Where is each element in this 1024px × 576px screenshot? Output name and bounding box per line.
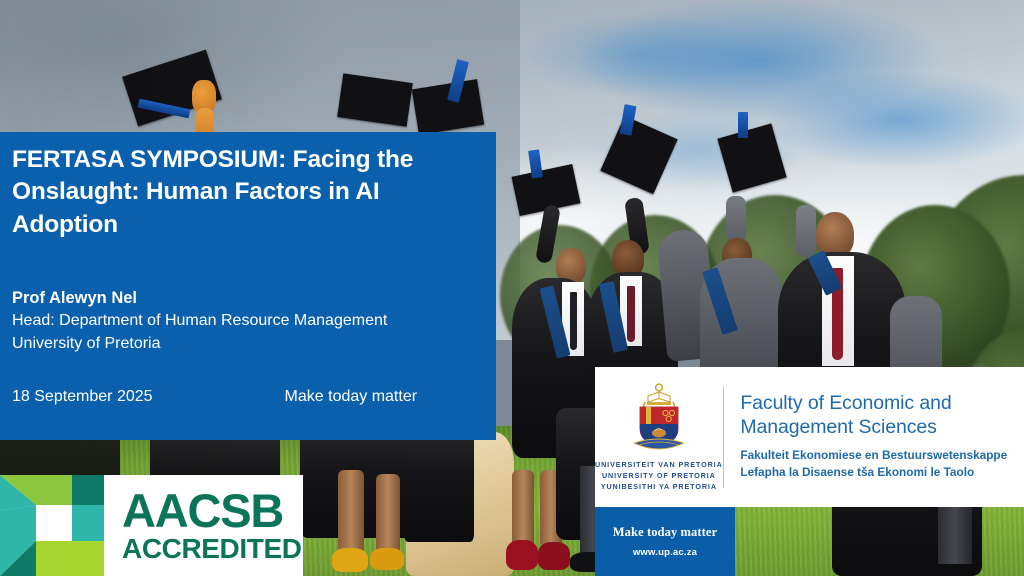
- cap-tassel-icon: [738, 112, 748, 138]
- raised-arm-icon: [726, 196, 746, 242]
- slide-date: 18 September 2025: [12, 388, 153, 406]
- raised-arm-icon: [796, 205, 816, 257]
- up-tagline-strip: Make today matter www.up.ac.za: [595, 507, 735, 576]
- crest-column: UNIVERSITEIT VAN PRETORIA UNIVERSITY OF …: [595, 381, 723, 492]
- leg-icon: [512, 470, 534, 548]
- shoe-icon: [538, 542, 570, 570]
- up-website-url[interactable]: www.up.ac.za: [633, 547, 697, 558]
- aacsb-accredited-logo: AACSB ACCREDITED: [0, 475, 303, 576]
- up-wordmark-line-af: UNIVERSITEIT VAN PRETORIA: [595, 460, 723, 471]
- faculty-column: Faculty of Economic and Management Scien…: [723, 392, 1024, 482]
- up-wordmark: UNIVERSITEIT VAN PRETORIA UNIVERSITY OF …: [595, 460, 723, 492]
- leg-icon: [376, 474, 400, 556]
- up-wordmark-line-zu: YUNIBESITHI YA PRETORIA: [595, 482, 723, 493]
- aacsb-text-block: AACSB ACCREDITED: [104, 475, 303, 576]
- slide-tagline: Make today matter: [285, 388, 418, 406]
- title-block: FERTASA SYMPOSIUM: Facing the Onslaught:…: [0, 132, 496, 440]
- aacsb-chevron-icon: [0, 475, 104, 576]
- necktie-icon: [627, 286, 635, 342]
- presentation-slide: FERTASA SYMPOSIUM: Facing the Onslaught:…: [0, 0, 1024, 576]
- up-wordmark-line-en: UNIVERSITY OF PRETORIA: [595, 471, 723, 482]
- leg-icon: [338, 470, 364, 554]
- aacsb-mark-icon: [0, 475, 104, 576]
- presenter-block: Prof Alewyn Nel Head: Department of Huma…: [12, 287, 482, 356]
- slide-title: FERTASA SYMPOSIUM: Facing the Onslaught:…: [12, 144, 482, 241]
- faculty-subtitle-sepedi: Lefapha la Disaense tša Ekonomi le Taolo: [740, 464, 1024, 482]
- shoe-icon: [370, 548, 404, 570]
- title-footer: 18 September 2025 Make today matter: [12, 388, 482, 406]
- shoe-icon: [332, 548, 368, 572]
- faculty-subtitle-afrikaans: Fakulteit Ekonomiese en Bestuurswetenska…: [740, 447, 1024, 465]
- presenter-role: Head: Department of Human Resource Manag…: [12, 310, 482, 333]
- faculty-title: Faculty of Economic and Management Scien…: [740, 392, 1024, 440]
- shoe-icon: [506, 540, 538, 570]
- up-tagline-text: Make today matter: [613, 525, 717, 540]
- presenter-name: Prof Alewyn Nel: [12, 287, 482, 310]
- necktie-icon: [570, 292, 577, 350]
- aacsb-name: AACSB: [122, 488, 303, 533]
- coat-of-arms-icon: [628, 383, 690, 455]
- university-logo-panel: UNIVERSITEIT VAN PRETORIA UNIVERSITY OF …: [595, 367, 1024, 507]
- aacsb-accredited-label: ACCREDITED: [122, 535, 303, 564]
- presenter-organisation: University of Pretoria: [12, 333, 482, 356]
